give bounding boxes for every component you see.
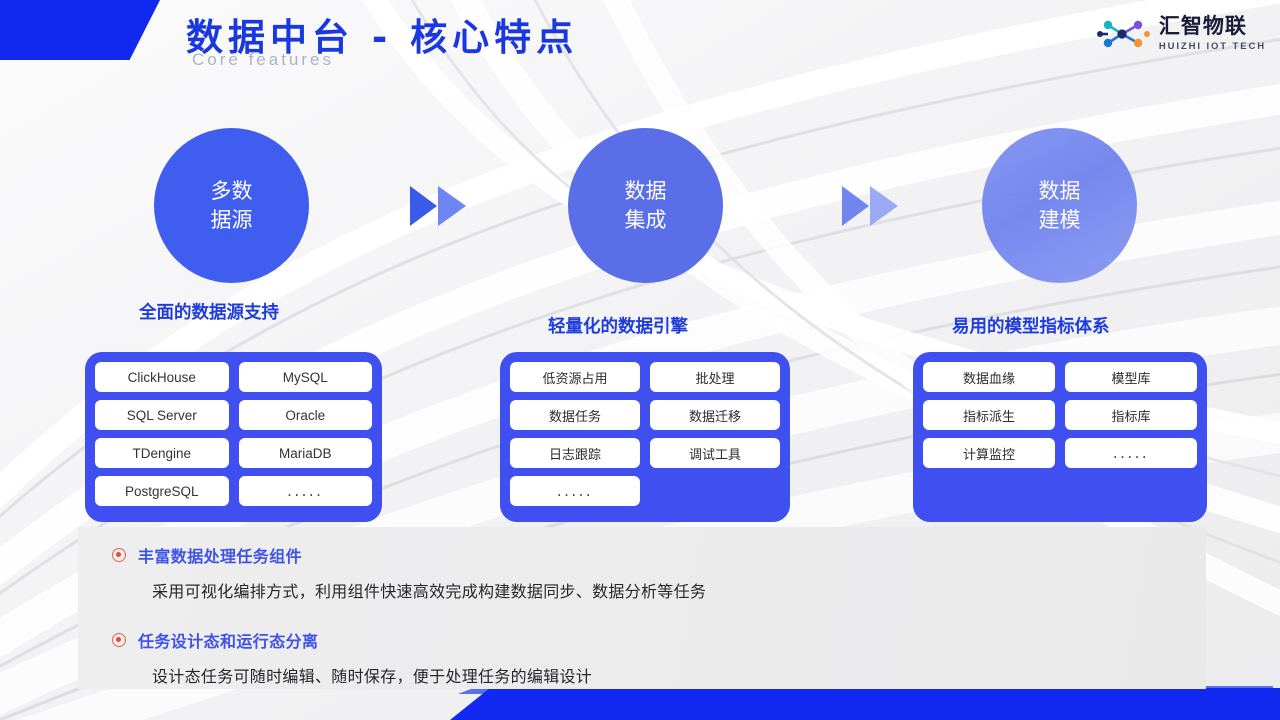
page-subtitle: Core features [192,50,334,70]
tag-item[interactable]: SQL Server [95,400,229,430]
double-triangle-right-icon [408,178,470,234]
tag-item[interactable]: Oracle [239,400,373,430]
flow-circle-data-modeling[interactable]: 数据 建模 [982,128,1137,283]
tag-item[interactable]: TDengine [95,438,229,468]
feature-item: 丰富数据处理任务组件 采用可视化编排方式，利用组件快速高效完成构建数据同步、数据… [112,543,1206,602]
logo-name-en: HUIZHI IOT TECH [1159,42,1266,52]
tag-group-data-integration: 低资源占用 批处理 数据任务 数据迁移 日志跟踪 调试工具 ..... [500,352,790,522]
stage-caption-data-integration: 轻量化的数据引擎 [548,313,688,338]
stage-caption-data-sources: 全面的数据源支持 [139,299,279,324]
tag-item-more[interactable]: ..... [239,476,373,506]
tag-item[interactable]: PostgreSQL [95,476,229,506]
feature-heading: 丰富数据处理任务组件 [138,543,706,567]
tag-item[interactable]: 日志跟踪 [510,438,640,468]
circle-text-line1: 数据 [1039,177,1081,206]
feature-panel: 丰富数据处理任务组件 采用可视化编排方式，利用组件快速高效完成构建数据同步、数据… [78,527,1206,689]
circle-text-line2: 建模 [1039,206,1081,235]
tag-item[interactable]: 指标库 [1065,400,1197,430]
tag-group-data-modeling: 数据血缘 模型库 指标派生 指标库 计算监控 ..... [913,352,1207,522]
tag-item[interactable]: 数据血缘 [923,362,1055,392]
tag-item[interactable]: 批处理 [650,362,780,392]
flow-circle-data-integration[interactable]: 数据 集成 [568,128,723,283]
tag-item[interactable]: 调试工具 [650,438,780,468]
circle-text-line1: 数据 [625,177,667,206]
tag-group-data-sources: ClickHouse MySQL SQL Server Oracle TDeng… [85,352,382,522]
logo-name-cn: 汇智物联 [1159,16,1266,37]
flow-circle-data-sources[interactable]: 多数 据源 [154,128,309,283]
tag-item[interactable]: 数据迁移 [650,400,780,430]
tag-item[interactable]: 指标派生 [923,400,1055,430]
decorative-dot [328,249,343,264]
tag-item[interactable]: MySQL [239,362,373,392]
tag-item-more[interactable]: ..... [510,476,640,506]
feature-heading: 任务设计态和运行态分离 [138,628,592,652]
tag-item[interactable]: 低资源占用 [510,362,640,392]
double-triangle-right-icon [840,178,902,234]
brand-logo: 汇智物联 HUIZHI IOT TECH [1096,16,1266,52]
bullet-target-icon [112,633,126,647]
slide-header: 数据中台 - 核心特点 Core features [0,0,1280,86]
stage-caption-data-modeling: 易用的模型指标体系 [952,313,1110,338]
tag-item[interactable]: 计算监控 [923,438,1055,468]
tag-item[interactable]: 数据任务 [510,400,640,430]
tag-item[interactable]: 模型库 [1065,362,1197,392]
feature-item: 任务设计态和运行态分离 设计态任务可随时编辑、随时保存，便于处理任务的编辑设计 [112,628,1206,687]
tag-item[interactable]: ClickHouse [95,362,229,392]
tag-item-more[interactable]: ..... [1065,438,1197,468]
circle-text-line2: 集成 [625,206,667,235]
circle-text-line2: 据源 [211,206,253,235]
molecule-network-icon [1096,17,1152,51]
tag-item[interactable]: MariaDB [239,438,373,468]
bullet-target-icon [112,548,126,562]
feature-description: 设计态任务可随时编辑、随时保存，便于处理任务的编辑设计 [152,663,592,687]
circle-text-line1: 多数 [211,177,253,206]
feature-description: 采用可视化编排方式，利用组件快速高效完成构建数据同步、数据分析等任务 [152,578,706,602]
